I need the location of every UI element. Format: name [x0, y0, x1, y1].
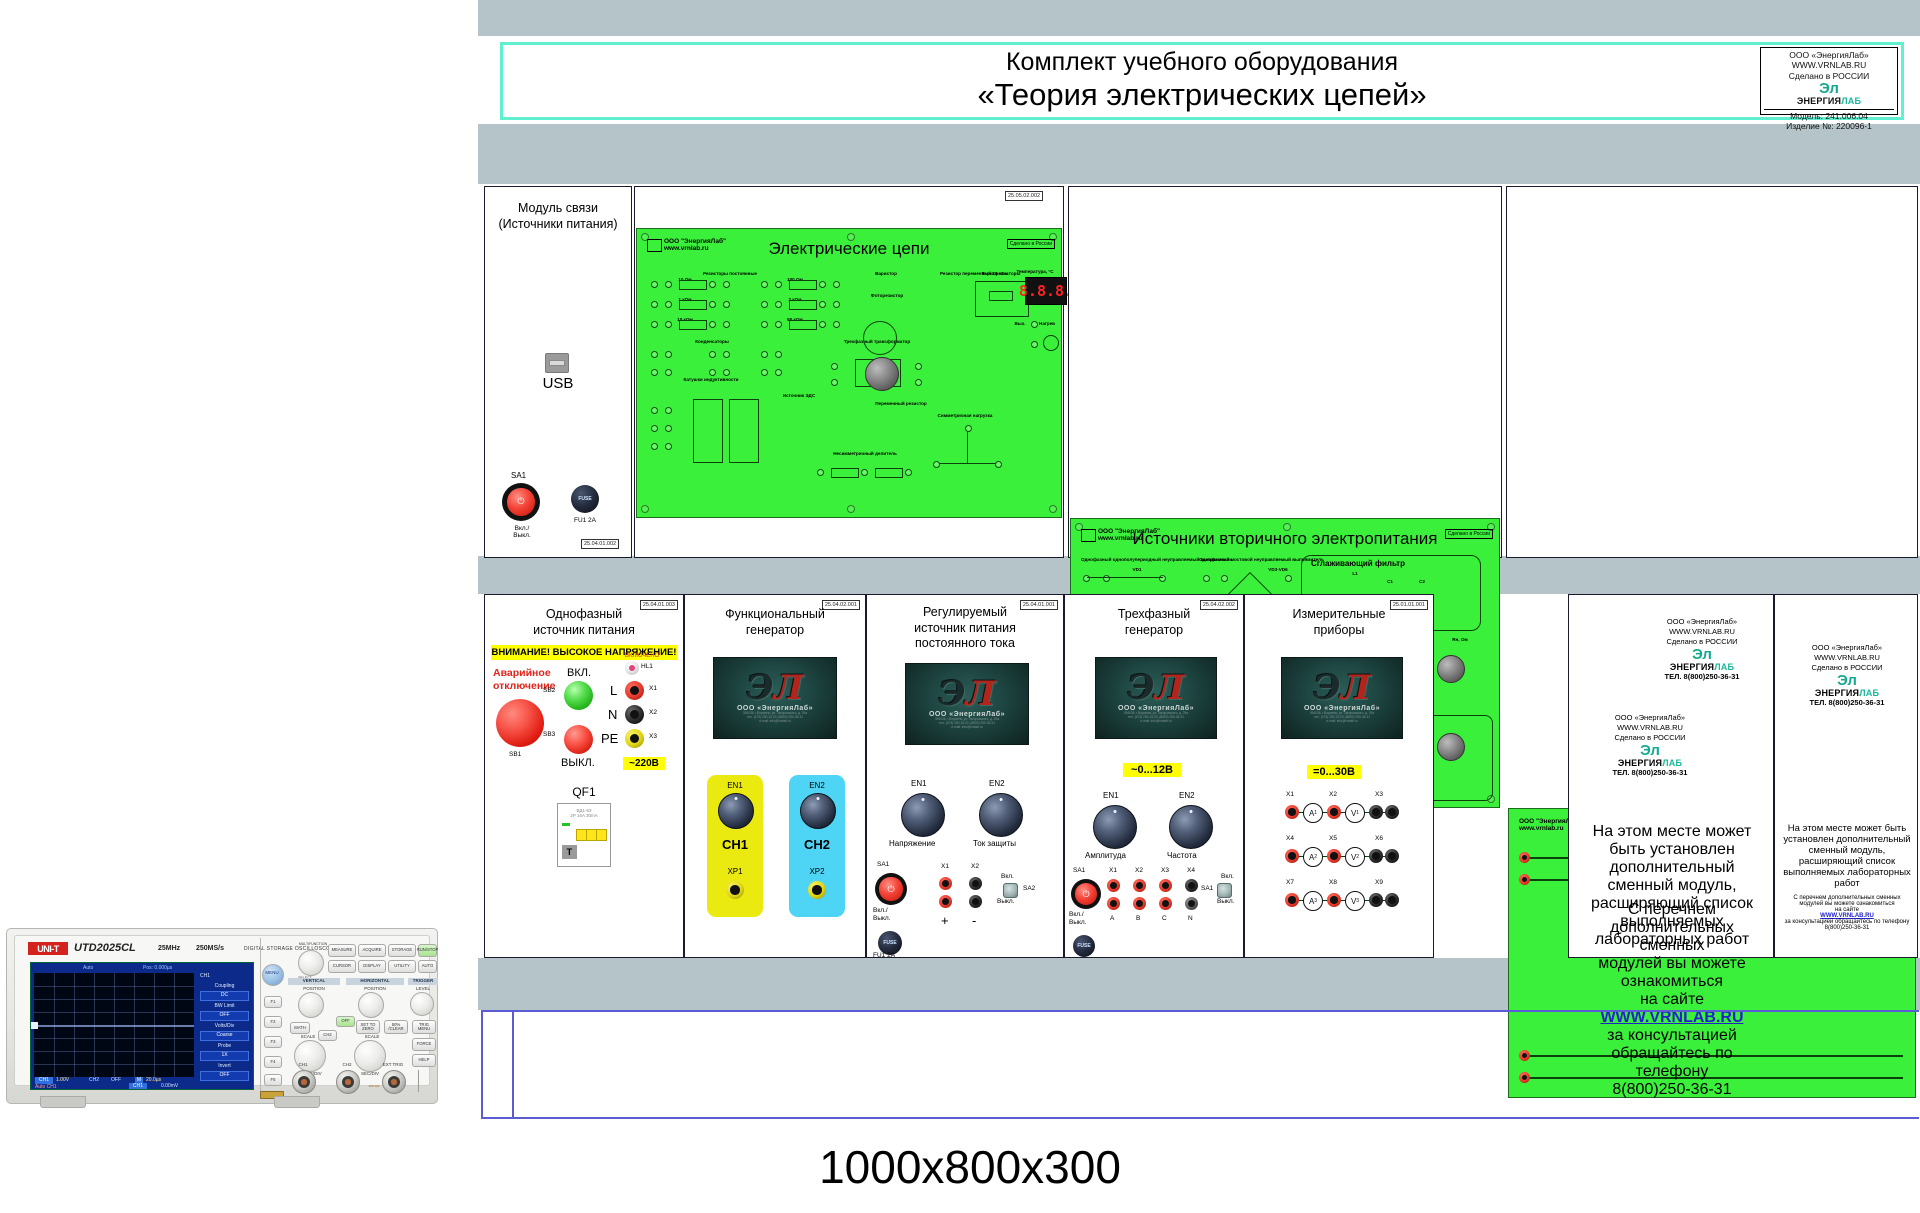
scope-button-storage[interactable]: STORAGE	[388, 944, 416, 957]
drawing-frame-inner-vertical	[512, 1010, 514, 1118]
breaker-model: ВД1-63	[577, 808, 592, 813]
terminal-node[interactable]	[723, 301, 730, 308]
terminal-ring	[972, 880, 979, 887]
m5-row2-socket-x5[interactable]	[1327, 849, 1341, 863]
power-icon: ⏻	[887, 885, 894, 894]
m2-ch2-name: CH2	[789, 837, 845, 852]
board-frame-mounting-panel	[1506, 186, 1918, 558]
terminal-ring	[1162, 882, 1169, 889]
m4-en1-label: EN1	[1103, 791, 1119, 800]
terminal-node[interactable]	[775, 351, 782, 358]
m2-channel-2[interactable]: EN2 CH2 XP2	[789, 775, 845, 917]
panel-spare-module-slot-1[interactable]: ООО «ЭнергияЛаб» WWW.VRNLAB.RU Сделано в…	[1568, 594, 1774, 958]
terminal-node[interactable]	[775, 281, 782, 288]
terminal-node[interactable]	[761, 369, 768, 376]
bus-terminal-red[interactable]	[1519, 1050, 1530, 1061]
board1-resistor-group-left	[651, 279, 771, 349]
board1-photoresistor-symbol	[863, 321, 897, 355]
m5-row1-socket-x1[interactable]	[1285, 805, 1299, 819]
terminal-node[interactable]	[665, 369, 672, 376]
m1-terminal-x1-id: X1	[649, 685, 657, 692]
rp1-tel: ТЕЛ. 8(800)250-36-31	[1629, 672, 1775, 681]
wire	[967, 427, 968, 463]
m5-row3-x8-label: X8	[1329, 879, 1337, 886]
m1-socket-x3[interactable]	[625, 729, 644, 748]
module-measuring-instruments[interactable]: 25.01.01.001 Измерительные приборы ЭЛ ОО…	[1244, 594, 1434, 958]
m5-energialab-card: ЭЛ ООО «ЭнергияЛаб» 394036, г.Воронеж, у…	[1281, 657, 1403, 739]
temperature-value: 8.8.8.	[1019, 282, 1073, 300]
breaker-rating: ВД1-63 2P 16A 30mA	[561, 808, 607, 819]
usb-port-icon[interactable]	[545, 353, 569, 373]
terminal-node[interactable]	[861, 469, 868, 476]
rp1-fine3: на сайте	[1581, 991, 1763, 1009]
terminal-node[interactable]	[651, 425, 658, 432]
m4-energialab-card: ЭЛ ООО «ЭнергияЛаб» 394036, г.Воронеж, у…	[1095, 657, 1217, 739]
comm-module-tag: 25.04.01.002	[581, 539, 619, 549]
m4-x2-socket-bottom[interactable]	[1133, 897, 1146, 910]
terminal-ring	[1522, 877, 1528, 883]
grid-line	[34, 1012, 194, 1013]
m3-x1-socket-top[interactable]	[939, 877, 952, 890]
m5-row2-socket-x6a[interactable]	[1369, 849, 1383, 863]
rp1b-mark: ЭНЕРГИЯЛАБ	[1577, 758, 1723, 768]
m3-x1-socket-bottom[interactable]	[939, 895, 952, 908]
m4-x1-socket-top[interactable]	[1107, 879, 1120, 892]
temperature-display: 8.8.8.	[1025, 277, 1067, 305]
board1-label-sym-load: Симметричная нагрузка	[933, 413, 997, 418]
terminal-ring	[1372, 808, 1379, 815]
terminal-node[interactable]	[915, 379, 922, 386]
energialab-card-address: 394036, г.Воронеж, ул. Загоровского, д. …	[1310, 712, 1374, 723]
screen-menu-value-voltsdiv[interactable]: Coarse	[200, 1031, 249, 1041]
terminal-node[interactable]	[775, 301, 782, 308]
m3-sa2-toggle[interactable]	[1003, 883, 1018, 898]
m4-frequency-knob[interactable]	[1169, 805, 1213, 849]
m3-x2-socket-bottom[interactable]	[969, 895, 982, 908]
m1-off-label: ВЫКЛ.	[561, 757, 595, 769]
screen-waveform-grid	[34, 973, 194, 1077]
scope-button-display[interactable]: DISPLAY	[358, 960, 386, 973]
terminal-node[interactable]	[833, 301, 840, 308]
screen-menu-value-bwlimit[interactable]: OFF	[200, 1011, 249, 1021]
terminal-node[interactable]	[709, 351, 716, 358]
m1-circuit-breaker[interactable]: ВД1-63 2P 16A 30mA T	[557, 803, 611, 867]
terminal-node[interactable]	[723, 321, 730, 328]
terminal-node[interactable]	[651, 351, 658, 358]
terminal-node[interactable]	[819, 321, 826, 328]
terminal-node[interactable]	[819, 281, 826, 288]
lamp-core	[629, 665, 636, 672]
knob-indicator-dot	[922, 798, 925, 801]
m1-lamp-caption: ВКЛЮЧЕНО	[625, 653, 659, 659]
board-electric-circuits[interactable]: ООО "ЭнергияЛаб" www.vrnlab.ru Электриче…	[636, 228, 1062, 518]
screen-side-menu[interactable]: CH1 Coupling DC BW Limit OFF Volts/Div C…	[198, 973, 251, 1077]
scope-bnc-ch1[interactable]	[292, 1070, 316, 1094]
m4-title-line1: Трехфазный	[1065, 607, 1243, 623]
m2-title-line1: Функциональный	[685, 607, 865, 623]
terminal-node[interactable]	[723, 369, 730, 376]
terminal-node[interactable]	[651, 407, 658, 414]
m2-channel-1[interactable]: EN1 CH1 XP1	[707, 775, 763, 917]
screen-menu-value-coupling[interactable]: DC	[200, 991, 249, 1001]
scope-bnc-ch2[interactable]	[336, 1070, 360, 1094]
m1-indicator-lamp	[625, 661, 639, 675]
m4-x1-label: X1	[1109, 867, 1117, 874]
m1-emergency-line1: Аварийное	[493, 667, 556, 680]
fuse-text: FUSE	[883, 940, 896, 946]
fuse-text: FUSE	[578, 496, 591, 502]
terminal-node[interactable]	[651, 321, 658, 328]
scope-button-acquire[interactable]: ACQUIRE	[358, 944, 386, 957]
scope-fkey-f5[interactable]: F5	[264, 1074, 282, 1086]
grid-line	[34, 986, 194, 987]
terminal-node[interactable]	[665, 301, 672, 308]
terminal-ring	[1330, 808, 1337, 815]
terminal-node[interactable]	[761, 351, 768, 358]
m5-row1-socket-x2[interactable]	[1327, 805, 1341, 819]
resistor-body	[679, 320, 707, 330]
m2-ch1-socket-label: XP1	[707, 867, 763, 876]
coil-box	[693, 399, 723, 463]
terminal-ring	[1330, 896, 1337, 903]
m5-ammeter-3: A3	[1303, 891, 1323, 911]
terminal-node[interactable]	[651, 443, 658, 450]
grid-line	[34, 1038, 194, 1039]
terminal-node[interactable]	[665, 407, 672, 414]
m4-phase-c: C	[1162, 915, 1167, 922]
terminal-ring	[1162, 900, 1169, 907]
resistor-body	[789, 320, 817, 330]
terminal-node[interactable]	[775, 321, 782, 328]
m5-voltmeter-3: V3	[1345, 891, 1365, 911]
backdrop-mid-band	[478, 124, 1920, 184]
m5-voltmeter-2: V2	[1345, 847, 1365, 867]
rp1-fine-link[interactable]: WWW.VRNLAB.RU	[1581, 1009, 1763, 1027]
module-three-phase-generator[interactable]: 25.04.02.002 Трехфазный генератор ЭЛ ООО…	[1064, 594, 1244, 958]
m5-row2-socket-x4[interactable]	[1285, 849, 1299, 863]
energia-logo-icon: Эл	[1764, 81, 1894, 96]
module-regulated-dc-supply[interactable]: 25.04.01.001 Регулируемый источник питан…	[866, 594, 1064, 958]
oscilloscope[interactable]: UNI-T UTD2025CL 25MHz 250MS/s DIGITAL ST…	[6, 928, 438, 1104]
terminal-ring	[630, 734, 640, 744]
m4-amplitude-knob[interactable]	[1093, 805, 1137, 849]
terminal-node[interactable]	[761, 321, 768, 328]
scope-sec-div-caption: SEC/DIV	[354, 1071, 386, 1076]
scope-button-50-clear[interactable]: 50% /CLEAR	[384, 1020, 408, 1034]
terminal-node[interactable]	[651, 281, 658, 288]
terminal-node[interactable]	[723, 351, 730, 358]
scope-sec-div-knob[interactable]	[354, 1040, 386, 1072]
bnc-pin	[391, 1079, 396, 1084]
m3-sa2-off: Выкл.	[997, 898, 1015, 905]
rp2-fine5: 8(800)250-36-31	[1779, 925, 1915, 931]
terminal-node[interactable]	[1031, 341, 1038, 348]
screen-menu-label-voltsdiv: Volts/Div	[198, 1023, 251, 1029]
comm-power-switch[interactable]: ⏻	[502, 483, 540, 521]
coil-box	[729, 399, 759, 463]
m4-x3-socket-bottom[interactable]	[1159, 897, 1172, 910]
screen-menu-value-probe[interactable]: 1X	[200, 1051, 249, 1061]
terminal-ring	[1522, 855, 1528, 861]
m1-emergency-stop-button[interactable]	[496, 699, 544, 747]
m5-ammeter-1: A1	[1303, 803, 1323, 823]
m4-x4-socket-bottom[interactable]	[1185, 897, 1198, 910]
terminal-node[interactable]	[833, 321, 840, 328]
m1-socket-x2[interactable]	[625, 705, 644, 724]
rp1-site: WWW.VRNLAB.RU	[1629, 627, 1775, 637]
terminal-node[interactable]	[833, 281, 840, 288]
terminal-node[interactable]	[1221, 575, 1228, 582]
terminal-node[interactable]	[965, 425, 972, 432]
m5-row2-x6-label: X6	[1375, 835, 1383, 842]
m4-range-badge: ~0...12В	[1123, 763, 1181, 777]
rp2-fine-print: С перечнем дополнительных сменных модуле…	[1779, 895, 1915, 931]
m4-title-line2: генератор	[1065, 623, 1243, 639]
terminal-node[interactable]	[665, 321, 672, 328]
energia-logo-icon: Эл	[1577, 743, 1723, 758]
module-function-generator[interactable]: 25.04.02.001 Функциональный генератор ЭЛ…	[684, 594, 866, 958]
m5-measure-row-1: X1 X2 X3 A1 V1	[1285, 791, 1395, 823]
scope-horizontal-position-knob[interactable]	[358, 992, 384, 1018]
scope-button-runstop[interactable]: RUN/STOP	[418, 944, 437, 957]
board-frame-secondary-power	[1068, 186, 1502, 558]
module-single-phase-power-supply[interactable]: 25.04.01.003 Однофазный источник питания…	[484, 594, 684, 958]
terminal-node[interactable]	[1203, 575, 1210, 582]
m1-qf1-label: QF1	[485, 785, 683, 799]
breaker-led	[562, 823, 570, 826]
scope-button-ch1-off[interactable]: OFF	[336, 1016, 355, 1027]
scope-button-math[interactable]: MATH	[290, 1022, 310, 1034]
m5-row3-socket-x8[interactable]	[1327, 893, 1341, 907]
m2-ch1-bnc-socket[interactable]	[726, 881, 744, 899]
board2-label-vd3-6: VD3-VD6	[1263, 567, 1293, 572]
terminal-node[interactable]	[1031, 321, 1038, 328]
terminal-node[interactable]	[651, 369, 658, 376]
m5-row1-x3-label: X3	[1375, 791, 1383, 798]
comm-sa1-on: Вкл./	[499, 525, 545, 532]
board2-label-rload: Rн, Ом	[1439, 637, 1481, 642]
terminal-node[interactable]	[831, 379, 838, 386]
scope-vertical-scale-label: SCALE	[288, 1034, 328, 1039]
terminal-node[interactable]	[995, 461, 1002, 468]
screen-status-label: Auto	[83, 965, 93, 971]
bus-terminal-red[interactable]	[1519, 1072, 1530, 1083]
brand-plate: ООО «ЭнергияЛаб» WWW.VRNLAB.RU Сделано в…	[1760, 47, 1898, 115]
terminal-node[interactable]	[761, 281, 768, 288]
panel-spare-module-slot-2[interactable]: ООО «ЭнергияЛаб» WWW.VRNLAB.RU Сделано в…	[1774, 594, 1918, 958]
m3-power-switch[interactable]: ⏻	[875, 873, 907, 905]
terminal-node[interactable]	[761, 301, 768, 308]
terminal-node[interactable]	[665, 425, 672, 432]
scope-fkey-f1[interactable]: F1	[264, 996, 282, 1008]
brand-company: ООО «ЭнергияЛаб»	[1764, 50, 1894, 60]
m3-minus-sign: -	[972, 913, 976, 928]
terminal-ring	[1388, 896, 1395, 903]
scope-fkey-f2[interactable]: F2	[264, 1016, 282, 1028]
rp1-fine1: С перечнем дополнительных сменных	[1581, 901, 1763, 955]
bus-terminal-red[interactable]	[1519, 852, 1530, 863]
terminal-ring	[1136, 900, 1143, 907]
scope-trigger-level-knob[interactable]	[410, 992, 434, 1016]
unit-brand-text: UNI-T	[37, 944, 59, 954]
fuse-text: FUSE	[1077, 943, 1090, 949]
scope-horizontal-scale-label: SCALE	[350, 1034, 394, 1039]
m3-x2-label: X2	[971, 863, 979, 870]
terminal-node[interactable]	[665, 281, 672, 288]
scope-probe-comp-terminals[interactable]	[418, 1070, 432, 1092]
m5-row1-socket-x3b[interactable]	[1385, 805, 1399, 819]
terminal-node[interactable]	[905, 469, 912, 476]
m4-x1-socket-bottom[interactable]	[1107, 897, 1120, 910]
terminal-node[interactable]	[775, 369, 782, 376]
module-communication[interactable]: Модуль связи (Источники питания) USB SA1…	[484, 186, 632, 558]
m5-row2-socket-x6b[interactable]	[1385, 849, 1399, 863]
m5-measure-row-3: X7 X8 X9 A3 V3	[1285, 879, 1395, 911]
m2-ch2-socket-label: XP2	[789, 867, 845, 876]
terminal-ring	[1110, 882, 1117, 889]
terminal-ring	[942, 880, 949, 887]
rp2-site: WWW.VRNLAB.RU	[1783, 653, 1911, 663]
bus-terminal-red[interactable]	[1519, 874, 1530, 885]
m1-on-label: ВКЛ.	[567, 667, 591, 679]
m3-voltage-knob[interactable]	[901, 793, 945, 837]
terminal-node[interactable]	[665, 351, 672, 358]
terminal-node[interactable]	[709, 301, 716, 308]
m4-power-switch[interactable]: ⏻	[1071, 879, 1101, 909]
scope-bnc-ext-trig[interactable]	[382, 1070, 406, 1094]
scope-button-measure[interactable]: MEASURE	[328, 944, 356, 957]
m4-phase-a: A	[1110, 915, 1114, 922]
breaker-test-button[interactable]: T	[562, 845, 577, 859]
ammeter-index: 3	[1314, 898, 1317, 904]
usb-slot	[549, 360, 565, 367]
terminal-node[interactable]	[651, 301, 658, 308]
energialab-card-address: 394036, г.Воронеж, ул. Загоровского, д. …	[743, 712, 807, 723]
breaker-lever[interactable]	[576, 829, 607, 841]
m5-row3-socket-x9a[interactable]	[1369, 893, 1383, 907]
comm-power-switch-inner: ⏻	[507, 488, 534, 515]
m4-en2-label: EN2	[1179, 791, 1195, 800]
m4-title: Трехфазный генератор	[1065, 607, 1243, 638]
comm-title-line1: Модуль связи	[485, 201, 631, 217]
scope-button-help[interactable]: HELP	[412, 1054, 436, 1067]
m5-row3-socket-x7[interactable]	[1285, 893, 1299, 907]
terminal-node[interactable]	[665, 443, 672, 450]
scope-button-force[interactable]: FORCE	[412, 1038, 436, 1051]
m5-title-line2: приборы	[1245, 623, 1433, 639]
bnc-center	[298, 1076, 311, 1089]
comm-fuse-label: FU1 2A	[563, 517, 607, 524]
screen-menu-label-invert: Invert	[198, 1063, 251, 1069]
comm-fuse[interactable]: FUSE	[571, 485, 599, 513]
terminal-node[interactable]	[1285, 575, 1292, 582]
scope-section-horizontal: HORIZONTAL	[346, 978, 404, 985]
m4-sa1r-toggle[interactable]	[1217, 883, 1232, 898]
terminal-node[interactable]	[831, 363, 838, 370]
m1-terminal-L: L	[610, 683, 617, 698]
terminal-ring	[1188, 882, 1195, 889]
drawing-frame-bottom-horizontal	[481, 1117, 1919, 1119]
knob-indicator-dot	[817, 797, 820, 800]
board1-label-temperature: Температура, °C	[1011, 269, 1059, 274]
scope-button-auto[interactable]: AUTO	[418, 960, 437, 973]
energia-logo-icon: Эл	[1783, 673, 1911, 688]
terminal-ring	[972, 898, 979, 905]
m2-ch2-encoder-knob[interactable]	[800, 793, 836, 829]
m1-terminal-PE: PE	[601, 731, 618, 746]
scope-vertical-position-knob[interactable]	[298, 992, 324, 1018]
screw-hole	[641, 505, 649, 513]
terminal-node[interactable]	[709, 369, 716, 376]
scope-fkey-f3[interactable]: F3	[264, 1036, 282, 1048]
m3-sa1-on: Вкл./	[873, 907, 891, 915]
terminal-node[interactable]	[817, 469, 824, 476]
m5-row3-socket-x9b[interactable]	[1385, 893, 1399, 907]
m4-x4-socket-top[interactable]	[1185, 879, 1198, 892]
board1-made-in-russia: Сделано в России	[1007, 239, 1055, 249]
m5-row1-socket-x3a[interactable]	[1369, 805, 1383, 819]
m3-x2-socket-top[interactable]	[969, 877, 982, 890]
scope-model: UTD2025CL	[74, 942, 136, 954]
board2-load-knob-1[interactable]	[1437, 655, 1465, 683]
scope-volts-div-knob[interactable]	[294, 1040, 326, 1072]
m3-en2-caption: Ток защиты	[973, 839, 1016, 848]
m1-terminal-N: N	[608, 707, 617, 722]
scope-button-cursor[interactable]: CURSOR	[328, 960, 356, 973]
screen-menu-label-bwlimit: BW Limit	[198, 1003, 251, 1009]
board2-load-knob-2[interactable]	[1437, 733, 1465, 761]
terminal-ring	[1188, 900, 1195, 907]
m2-ch1-encoder-label: EN1	[707, 781, 763, 790]
m1-socket-x1[interactable]	[625, 681, 644, 700]
bnc-pin	[301, 1079, 306, 1084]
screen-menu-value-invert[interactable]: OFF	[200, 1071, 249, 1081]
rp2-company: ООО «ЭнергияЛаб»	[1783, 643, 1911, 653]
scope-button-trig-menu[interactable]: TRIG MENU	[412, 1020, 436, 1034]
terminal-node[interactable]	[915, 363, 922, 370]
brand-item-number: Изделие №: 220096-1	[1764, 121, 1894, 131]
terminal-node[interactable]	[709, 281, 716, 288]
scope-input-ch1-label: CH1	[292, 1062, 314, 1067]
m3-title-line1: Регулируемый	[867, 605, 1063, 621]
scope-foot-right	[274, 1096, 320, 1108]
scope-button-set-to-zero[interactable]: SET TO ZERO	[356, 1020, 380, 1034]
m4-x2-socket-top[interactable]	[1133, 879, 1146, 892]
m1-stop-button[interactable]	[564, 725, 593, 754]
m4-x3-socket-top[interactable]	[1159, 879, 1172, 892]
grid-line	[34, 999, 194, 1000]
oscilloscope-screen[interactable]: Auto Pos: 0.000µs CH1	[30, 962, 254, 1090]
scope-button-utility[interactable]: UTILITY	[388, 960, 416, 973]
scope-fkey-f4[interactable]: F4	[264, 1056, 282, 1068]
scope-horizontal-position-label: POSITION	[346, 986, 404, 991]
scope-trigger-level-label: LEVEL	[408, 986, 438, 991]
terminal-node[interactable]	[819, 301, 826, 308]
terminal-node[interactable]	[723, 281, 730, 288]
scope-multifunction-knob[interactable]	[298, 950, 324, 976]
m2-ch2-bnc-socket[interactable]	[808, 881, 826, 899]
terminal-node[interactable]	[709, 321, 716, 328]
m3-current-limit-knob[interactable]	[979, 793, 1023, 837]
m2-ch1-encoder-knob[interactable]	[718, 793, 754, 829]
rp1b-site: WWW.VRNLAB.RU	[1577, 723, 1723, 733]
energialab-monogram-icon: ЭЛ	[938, 679, 995, 710]
board1-big-knob[interactable]	[865, 357, 899, 391]
m4-fuse[interactable]: FUSE	[1073, 935, 1095, 957]
scope-menu-button[interactable]	[262, 964, 284, 986]
terminal-ring	[1388, 852, 1395, 859]
m1-start-button[interactable]	[564, 681, 593, 710]
